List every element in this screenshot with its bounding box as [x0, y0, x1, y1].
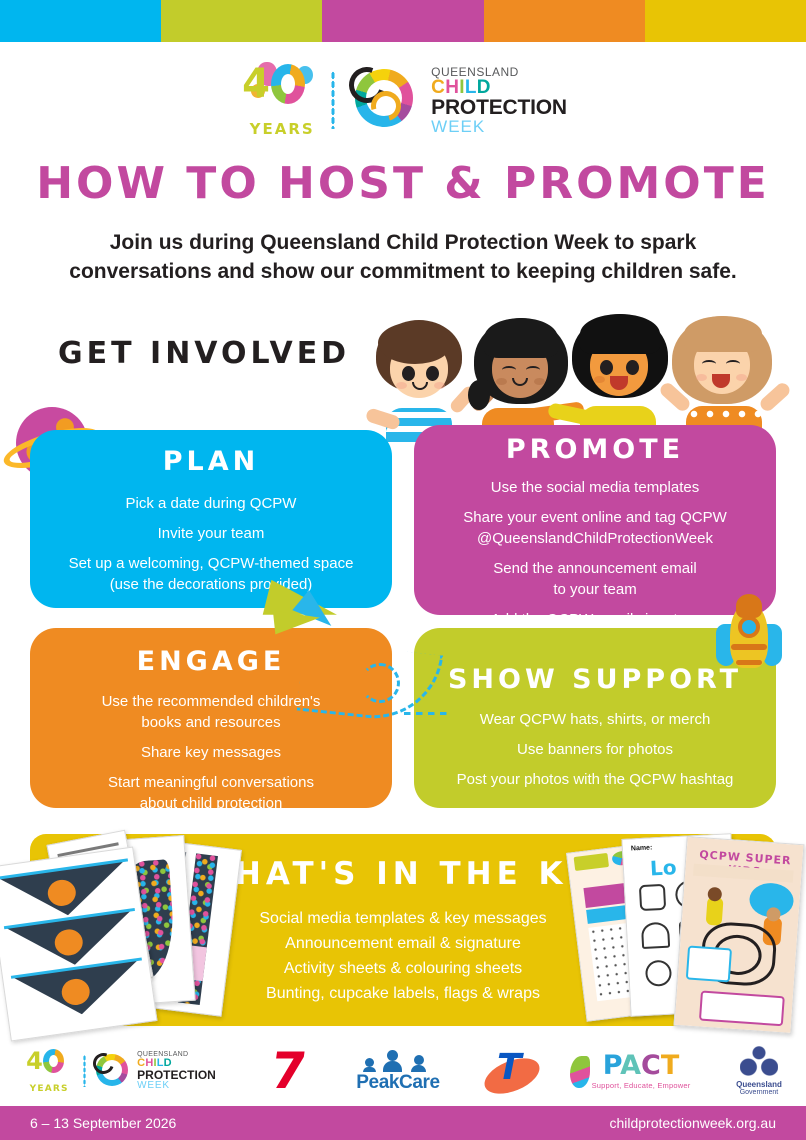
kit-sheet-bunting: [0, 847, 158, 1042]
top-colour-bar: [0, 0, 806, 42]
child-figure-1: [368, 320, 478, 442]
page-subtitle: Join us during Queensland Child Protecti…: [60, 228, 746, 286]
peakcare-figures-icon: [361, 1049, 435, 1071]
card-engage-line-3: Start meaningful conversations about chi…: [48, 772, 374, 814]
footer-website[interactable]: childprotectionweek.org.au: [609, 1115, 776, 1131]
plane-trail-loop-icon: [360, 663, 400, 703]
paper-plane-icon: [266, 578, 374, 646]
pact-bird-icon: [570, 1056, 590, 1088]
card-promote-line-1: Use the social media templates: [424, 477, 766, 498]
partner-anniversary-zero-icon: [43, 1049, 64, 1073]
colour-segment-lime: [161, 0, 322, 42]
pact-tagline: Support, Educate, Empower: [592, 1081, 691, 1090]
footer-bar: 6 – 13 September 2026 childprotectionwee…: [0, 1106, 806, 1140]
card-show-support-line-1: Wear QCPW hats, shirts, or merch: [422, 709, 768, 730]
seven-logo: 7: [268, 1050, 309, 1092]
card-promote[interactable]: PROMOTE Use the social media templates S…: [414, 425, 776, 615]
qgov-label-1: Queensland: [736, 1080, 782, 1089]
partner-anniversary-number: 4: [26, 1049, 43, 1073]
card-plan-line-1: Pick a date during QCPW: [44, 493, 378, 514]
subtitle-line-2: conversations and show our commitment to…: [60, 257, 746, 286]
partner-queensland-government: Queensland Government: [712, 1046, 806, 1096]
card-engage-line-2: Share key messages: [48, 742, 374, 763]
children-illustration: [368, 312, 788, 442]
colour-segment-yellow: [645, 0, 806, 42]
qcpw-wordmark: QUEENSLAND CHILD PROTECTION WEEK: [431, 66, 567, 135]
partner-pact: PACT Support, Educate, Empower: [570, 1052, 712, 1090]
colour-segment-blue: [0, 0, 161, 42]
qgov-label-2: Government: [736, 1089, 782, 1096]
brand-child: CHILD: [431, 78, 567, 97]
kit-artwork-right: Name: Lo QCPW SUPER KIDS: [570, 836, 806, 1036]
peakcare-wordmark: PeakCare: [356, 1072, 439, 1094]
card-plan-line-2: Invite your team: [44, 523, 378, 544]
section-heading-get-involved: GET INVOLVED: [58, 336, 350, 371]
card-show-support-line-2: Use banners for photos: [422, 739, 768, 760]
child-figure-4: [664, 316, 788, 442]
pact-wordmark: PACT: [592, 1052, 691, 1080]
partner-anniversary-years: YEARS: [24, 1084, 74, 1094]
kit-artwork-left: [0, 838, 226, 1034]
page-title: HOW TO HOST & PROMOTE: [0, 158, 806, 209]
partner-forty-years-logo: 4 YEARS: [24, 1048, 76, 1094]
partner-dot-separator-icon: [83, 1055, 86, 1087]
child-figure-2: [468, 318, 580, 442]
partner-qcpw-lockup: 4 YEARS QUEENSLAND CHILD PROTECTION WEEK: [0, 1048, 240, 1094]
brand-protection: PROTECTION: [431, 97, 567, 118]
colour-segment-orange: [484, 0, 645, 42]
child-figure-3: [566, 316, 678, 442]
partner-seven-network: 7: [240, 1050, 336, 1092]
card-show-support-lines: Wear QCPW hats, shirts, or merch Use ban…: [414, 709, 776, 790]
brand-week: WEEK: [431, 118, 567, 135]
qcpw-logo-mark-icon: [349, 65, 419, 135]
dot-separator-icon: [331, 71, 335, 129]
anniversary-years-label: YEARS: [241, 120, 323, 138]
queensland-crest-icon: [740, 1046, 778, 1080]
subtitle-line-1: Join us during Queensland Child Protecti…: [60, 228, 746, 257]
partner-brand-week: WEEK: [137, 1081, 216, 1091]
plane-trail-dashes-icon: [404, 712, 452, 715]
kit-sheet-super-kids: QCPW SUPER KIDS: [674, 836, 805, 1034]
colour-segment-magenta: [322, 0, 483, 42]
card-plan-heading: PLAN: [30, 446, 392, 477]
forty-years-logo: 4 YEARS: [239, 62, 325, 138]
anniversary-number: 4: [242, 64, 268, 104]
telstra-logo: T: [479, 1049, 551, 1093]
partner-peakcare: PeakCare: [336, 1049, 460, 1094]
partner-qcpw-mark-icon: [93, 1052, 131, 1090]
header-logo-lockup: 4 YEARS QUEENSLAND CHILD PROTECTION WEEK: [0, 55, 806, 145]
telstra-t-letter: T: [497, 1048, 569, 1088]
anniversary-zero-icon: [271, 64, 305, 104]
card-promote-line-2: Share your event online and tag QCPW @Qu…: [424, 507, 766, 549]
footer-dates: 6 – 13 September 2026: [30, 1115, 176, 1131]
partner-qcpw-wordmark: QUEENSLAND CHILD PROTECTION WEEK: [137, 1051, 216, 1091]
poster: 4 YEARS QUEENSLAND CHILD PROTECTION WEEK…: [0, 0, 806, 1140]
card-show-support-line-3: Post your photos with the QCPW hashtag: [422, 769, 768, 790]
card-promote-heading: PROMOTE: [414, 434, 776, 465]
partner-logo-row: 4 YEARS QUEENSLAND CHILD PROTECTION WEEK…: [0, 1040, 806, 1102]
partner-telstra: T: [460, 1049, 570, 1093]
card-promote-line-3: Send the announcement email to your team: [424, 558, 766, 600]
rocket-icon: [714, 598, 784, 690]
